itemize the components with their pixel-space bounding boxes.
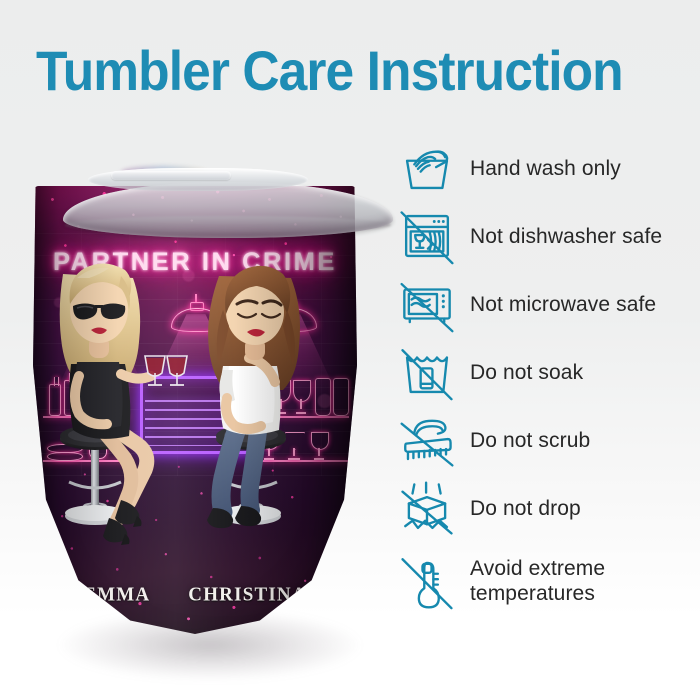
care-row-dishwasher: Not dishwasher safe [398,202,700,270]
character-christina [167,266,300,528]
thermometer-icon [398,552,456,610]
dishwasher-icon [398,207,456,265]
name-1: EMMA [83,583,150,606]
care-row-drop: Do not drop [398,474,700,542]
care-row-temperature: Avoid extreme temperatures [398,542,700,620]
care-label: Do not scrub [470,428,590,453]
character-emma [60,263,165,545]
personalized-names: EMMA CHRISTINA [33,584,357,606]
care-row-microwave: Not microwave safe [398,270,700,338]
care-instruction-list: Hand wash only Not dishwasher safe [398,134,700,620]
page-title: Tumbler Care Instruction [36,42,643,100]
microwave-icon [398,275,456,333]
tumbler-body: PARTNER IN CRIME [33,186,357,634]
care-label: Not dishwasher safe [470,224,662,249]
scrub-brush-icon [398,411,456,469]
product-image: PARTNER IN CRIME [0,130,395,670]
care-row-soak: Do not soak [398,338,700,406]
care-label: Do not drop [470,496,581,521]
character-illustration [33,186,357,634]
care-label: Do not soak [470,360,583,385]
hand-wash-icon [398,139,456,197]
care-row-hand-wash: Hand wash only [398,134,700,202]
name-2: CHRISTINA [188,583,307,606]
care-label: Not microwave safe [470,292,656,317]
lid-slider-closure [111,171,231,180]
care-row-scrub: Do not scrub [398,406,700,474]
wine-glass-right [167,356,187,385]
soak-basin-icon [398,343,456,401]
wine-tumbler: PARTNER IN CRIME [33,164,357,634]
care-label: Avoid extreme temperatures [470,556,605,606]
drop-package-icon [398,479,456,537]
care-label: Hand wash only [470,156,621,181]
care-instruction-page: Tumbler Care Instruction PARTNER IN CRIM… [0,0,700,700]
